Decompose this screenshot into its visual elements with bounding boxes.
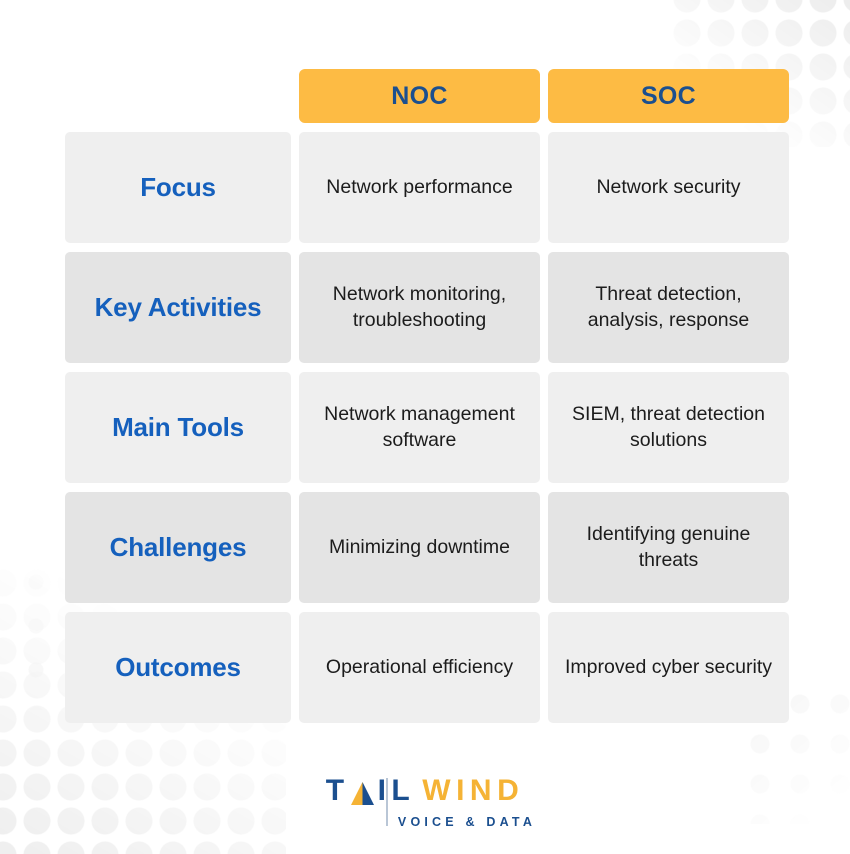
table-row: Focus Network performance Network securi… — [65, 132, 783, 243]
tailwind-logo: T IL WIND VOICE & DATA — [0, 776, 850, 829]
row-label-key-activities: Key Activities — [65, 252, 291, 363]
logo-tail-prefix: T — [326, 776, 350, 806]
cell-main-tools-noc: Network management software — [299, 372, 540, 483]
table-row: Key Activities Network monitoring, troub… — [65, 252, 783, 363]
logo-divider — [386, 778, 388, 826]
table-row: Outcomes Operational efficiency Improved… — [65, 612, 783, 723]
logo-text-tail: T IL — [326, 776, 416, 806]
cell-challenges-soc: Identifying genuine threats — [548, 492, 789, 603]
logo-tail-suffix: IL — [378, 776, 416, 806]
cell-focus-noc: Network performance — [299, 132, 540, 243]
logo-text-wind: WIND — [415, 776, 524, 806]
row-label-outcomes: Outcomes — [65, 612, 291, 723]
logo-subtitle: VOICE & DATA — [398, 815, 536, 829]
tailwind-arrow-icon — [351, 781, 374, 804]
cell-focus-soc: Network security — [548, 132, 789, 243]
table-row: Main Tools Network management software S… — [65, 372, 783, 483]
cell-main-tools-soc: SIEM, threat detection solutions — [548, 372, 789, 483]
cell-challenges-noc: Minimizing downtime — [299, 492, 540, 603]
cell-key-activities-noc: Network monitoring, troubleshooting — [299, 252, 540, 363]
column-header-soc: SOC — [548, 69, 789, 123]
cell-key-activities-soc: Threat detection, analysis, response — [548, 252, 789, 363]
row-label-focus: Focus — [65, 132, 291, 243]
cell-outcomes-soc: Improved cyber security — [548, 612, 789, 723]
row-label-main-tools: Main Tools — [65, 372, 291, 483]
row-label-challenges: Challenges — [65, 492, 291, 603]
column-header-noc: NOC — [299, 69, 540, 123]
logo-wordmark: T IL WIND — [326, 776, 524, 806]
table-header-row: NOC SOC — [65, 69, 783, 123]
table-corner-cell — [65, 69, 291, 123]
cell-outcomes-noc: Operational efficiency — [299, 612, 540, 723]
table-row: Challenges Minimizing downtime Identifyi… — [65, 492, 783, 603]
noc-vs-soc-comparison-table: NOC SOC Focus Network performance Networ… — [65, 69, 783, 732]
